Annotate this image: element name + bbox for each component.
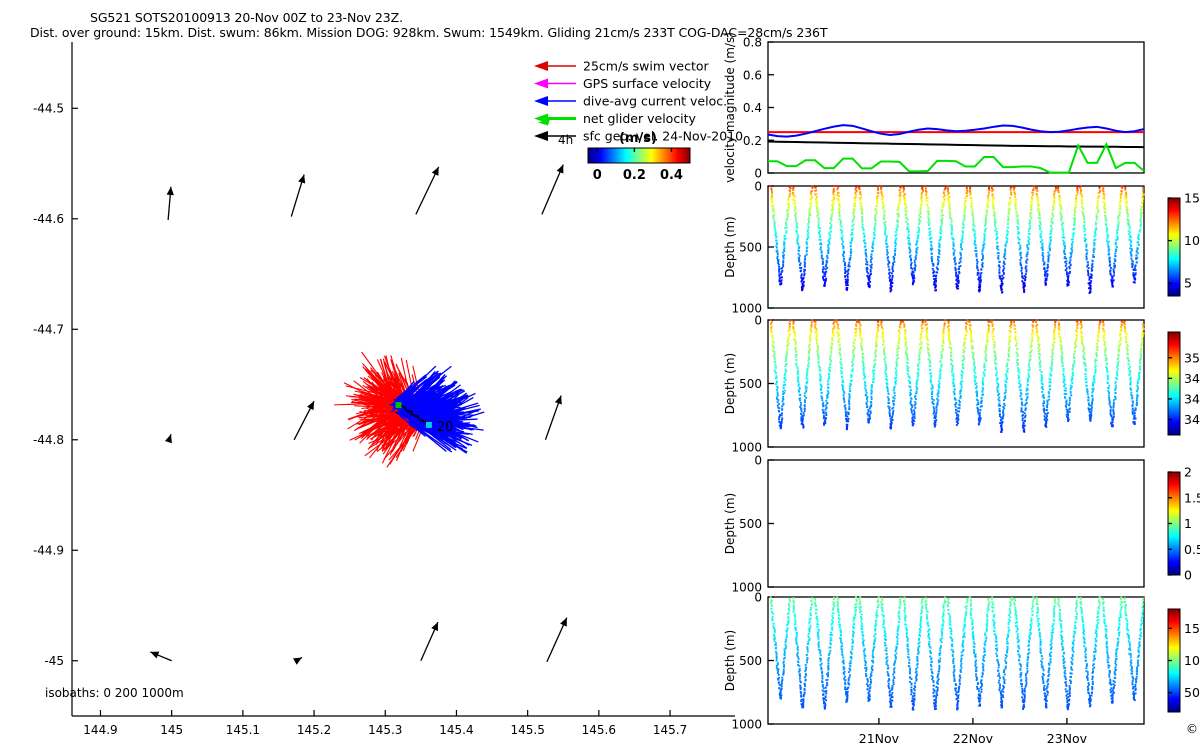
- velocity-ylabel: velocity magnitude (m/s): [723, 32, 737, 183]
- velocity-ytick: 0: [754, 167, 762, 181]
- legend-entry: [534, 61, 576, 71]
- oxygen-frame: [768, 597, 1144, 724]
- temperature-colorbar-tick: 5: [1184, 276, 1192, 291]
- chlorophyll-colorbar-tick: 2: [1184, 465, 1192, 480]
- legend-entry-label: net glider velocity: [583, 111, 697, 126]
- geostrophic-velocity-field: [150, 165, 566, 665]
- chlorophyll-ylabel: Depth (m): [723, 493, 737, 554]
- salinity-frame: [768, 320, 1144, 447]
- chlorophyll-colorbar-tick: 1.5: [1184, 490, 1200, 505]
- map-xtick: 145.2: [297, 723, 331, 737]
- oxygen-ytick: 1000: [731, 718, 762, 732]
- temperature-frame: [768, 186, 1144, 308]
- salinity-ylabel: Depth (m): [723, 353, 737, 414]
- track-end-marker: [426, 422, 432, 428]
- legend-colorbar: 00.20.4: [588, 148, 690, 182]
- oxygen-xtick: 23Nov: [1047, 731, 1088, 746]
- velocity-ytick: 0.8: [743, 36, 762, 50]
- map-ytick: -44.9: [33, 543, 64, 557]
- chlorophyll-colorbar-tick: 0.5: [1184, 542, 1200, 557]
- map-xtick: 145.1: [226, 723, 260, 737]
- salinity-ytick: 1000: [731, 441, 762, 455]
- oxygen-xtick: 22Nov: [953, 731, 994, 746]
- velocity-series: [768, 125, 1144, 136]
- chlorophyll-frame: [768, 460, 1144, 587]
- salinity-points: [770, 319, 1145, 433]
- map-xtick: 144.9: [83, 723, 117, 737]
- chlorophyll-colorbar-tick: 0: [1184, 568, 1192, 583]
- legend-entry: [534, 114, 576, 126]
- oxygen-ylabel: Depth (m): [723, 630, 737, 691]
- velocity-series: [768, 144, 1144, 172]
- salinity-colorbar-tick: 34.4: [1184, 412, 1200, 427]
- legend-colorbar-gradient: [588, 148, 690, 163]
- temperature-ylabel: Depth (m): [723, 216, 737, 277]
- oxygen-ytick: 500: [739, 654, 762, 668]
- oxygen-ytick: 0: [754, 591, 762, 605]
- legend-time-scale-label: 4h: [558, 133, 573, 147]
- oxygen-colorbar-tick: 50: [1184, 685, 1200, 700]
- map-isobaths-label: isobaths: 0 200 1000m: [45, 686, 184, 700]
- dive-number-label: 20: [437, 420, 454, 435]
- copyright-text: © IMOS 15-Feb-2019 01:28:34 Hobart time.…: [1186, 722, 1200, 736]
- temperature-ytick: 0: [754, 180, 762, 194]
- temperature-colorbar-tick: 15: [1184, 191, 1200, 206]
- velocity-panel-frame: [768, 42, 1144, 173]
- velocity-ytick: 0.4: [743, 101, 762, 115]
- legend-entry: [534, 79, 576, 89]
- legend-colorbar-tick: 0: [593, 168, 602, 183]
- map-xtick: 145.7: [653, 723, 687, 737]
- oxygen-colorbar-tick: 150: [1184, 621, 1200, 636]
- legend-entry-label: 25cm/s swim vector: [583, 59, 710, 74]
- temperature-colorbar-tick: 10: [1184, 233, 1200, 248]
- oxygen-xtick: 21Nov: [859, 731, 900, 746]
- legend-colorbar-title: (m/s): [619, 131, 657, 146]
- legend-entry-label: dive-avg current veloc.: [583, 94, 727, 109]
- velocity-series: [768, 142, 1144, 148]
- map-ytick: -44.8: [33, 433, 64, 447]
- temperature-ytick: 500: [739, 241, 762, 255]
- salinity-ytick: 500: [739, 377, 762, 391]
- map-ytick: -45: [44, 654, 64, 668]
- chlorophyll-ytick: 500: [739, 517, 762, 531]
- legend-entry-label: GPS surface velocity: [583, 76, 712, 91]
- map-xtick: 145.4: [439, 723, 473, 737]
- oxygen-colorbar-tick: 100: [1184, 653, 1200, 668]
- map-ytick: -44.5: [33, 101, 64, 115]
- legend-colorbar-tick: 0.4: [660, 168, 683, 183]
- salinity-colorbar-tick: 34.6: [1184, 391, 1200, 406]
- salinity-colorbar-tick: 34.8: [1184, 371, 1200, 386]
- salinity-ytick: 0: [754, 314, 762, 328]
- velocity-ytick: 0.2: [743, 134, 762, 148]
- map-xtick: 145.5: [510, 723, 544, 737]
- copyright-credit: © IMOS 15-Feb-2019 01:28:34 Hobart time.…: [1186, 718, 1200, 737]
- map-xtick: 145.6: [582, 723, 616, 737]
- temperature-points: [769, 185, 1144, 294]
- section-panels[interactable]: 00.20.40.60.8velocity magnitude (m/s)050…: [720, 0, 1200, 750]
- legend-entry: [534, 96, 576, 106]
- velocity-ytick: 0.6: [743, 68, 762, 82]
- map-xtick: 145: [160, 723, 183, 737]
- oxygen-points: [770, 596, 1144, 711]
- chlorophyll-colorbar-tick: 1: [1184, 516, 1192, 531]
- section-plots[interactable]: 00.20.40.60.8velocity magnitude (m/s)050…: [720, 0, 1200, 750]
- chlorophyll-ytick: 0: [754, 454, 762, 468]
- temperature-colorbar: [1168, 198, 1180, 296]
- salinity-colorbar-tick: 35: [1184, 350, 1200, 365]
- legend-colorbar-tick: 0.2: [623, 168, 646, 183]
- map-ytick: -44.6: [33, 212, 64, 226]
- map-ytick: -44.7: [33, 322, 64, 336]
- map-xtick: 145.3: [368, 723, 402, 737]
- track-start-marker: [396, 402, 402, 408]
